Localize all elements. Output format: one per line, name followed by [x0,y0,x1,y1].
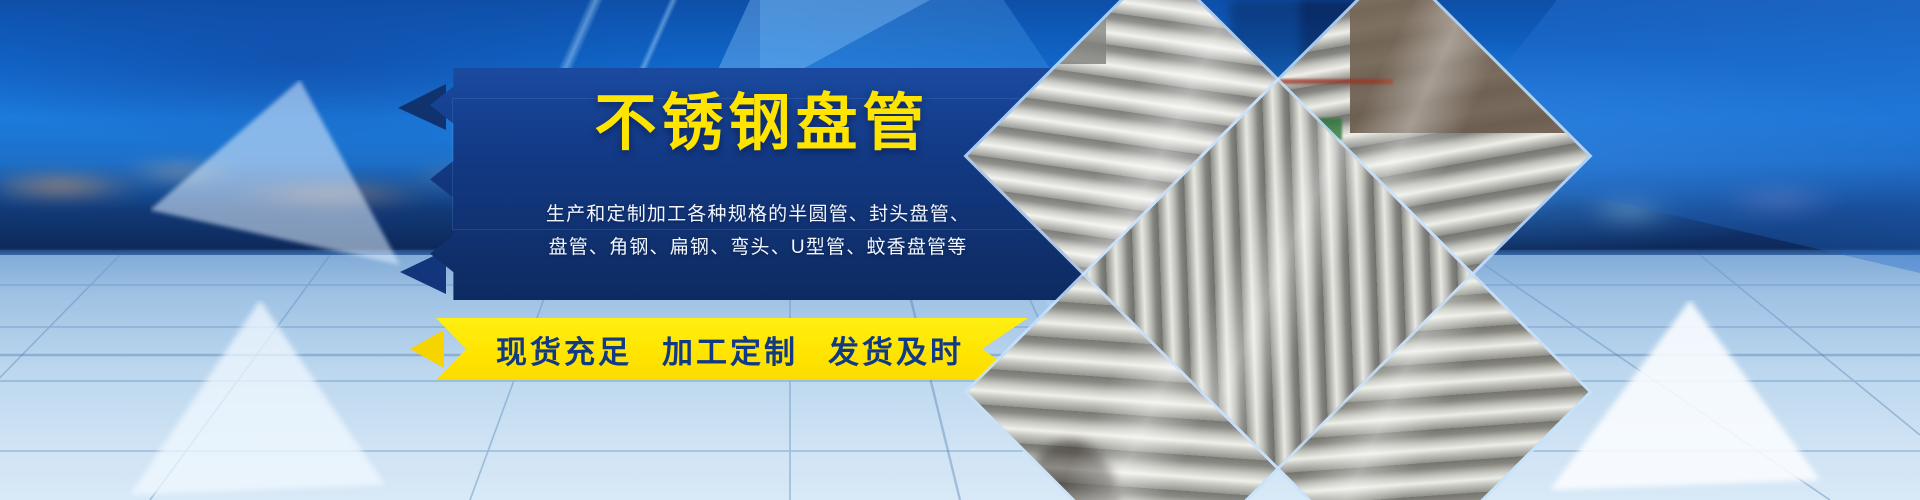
feature-item-custom: 加工定制 [662,327,798,372]
promo-banner: 不锈钢盘管 生产和定制加工各种规格的半圆管、封头盘管、 盘管、角钢、扁钢、弯头、… [0,0,1920,500]
decorative-triangle-2 [130,300,390,500]
feature-item-stock: 现货充足 [496,327,632,372]
product-photo-collage [1010,0,1570,500]
decorative-triangle-1 [150,80,410,270]
subtitle-line-1: 生产和定制加工各种规格的半圆管、封头盘管、 [452,198,1064,231]
subtitle-line-2: 盘管、角钢、扁钢、弯头、U型管、蚊香盘管等 [452,231,1064,264]
feature-item-shipping: 发货及时 [828,327,964,372]
decorative-triangle-3 [1540,300,1840,500]
banner-subtitle: 生产和定制加工各种规格的半圆管、封头盘管、 盘管、角钢、扁钢、弯头、U型管、蚊香… [452,198,1064,265]
feature-list: 现货充足 加工定制 发货及时 [470,318,990,380]
